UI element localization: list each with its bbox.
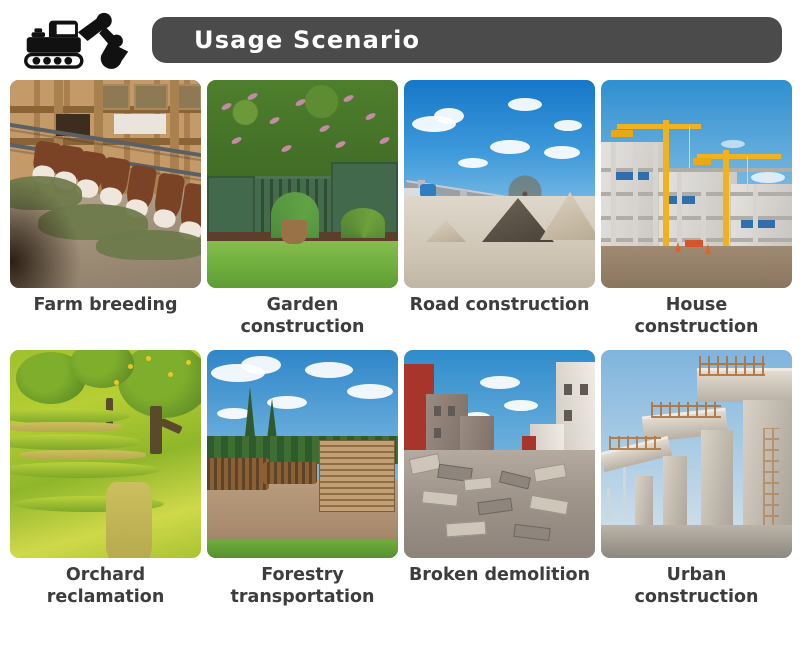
scenario-image-broken-demolition [404, 350, 595, 558]
scenario-card-urban-construction[interactable]: Urban construction [601, 350, 792, 608]
scenario-card-garden-construction[interactable]: Garden construction [207, 80, 398, 338]
scenario-row-2: Orchard reclamation [0, 338, 800, 608]
scenario-label-broken-demolition: Broken demolition [407, 565, 592, 587]
excavator-icon [14, 10, 138, 70]
usage-scenario-page: Usage Scenario [0, 0, 800, 645]
scenario-card-house-construction[interactable]: House construction [601, 80, 792, 338]
scenario-card-orchard-reclamation[interactable]: Orchard reclamation [10, 350, 201, 608]
scenario-image-urban-construction [601, 350, 792, 558]
section-title-bar: Usage Scenario [152, 17, 782, 63]
scenario-row-1: Farm breeding [0, 74, 800, 338]
scenario-image-road-construction [404, 80, 595, 288]
scenario-image-garden-construction [207, 80, 398, 288]
scenario-label-house-construction: House construction [604, 295, 789, 338]
scenario-image-forestry-transportation [207, 350, 398, 558]
scenario-card-broken-demolition[interactable]: Broken demolition [404, 350, 595, 608]
scenario-image-house-construction [601, 80, 792, 288]
scenario-grid: Farm breeding [0, 74, 800, 609]
scenario-label-road-construction: Road construction [407, 295, 592, 317]
scenario-card-farm-breeding[interactable]: Farm breeding [10, 80, 201, 338]
scenario-label-farm-breeding: Farm breeding [13, 295, 198, 317]
scenario-label-garden-construction: Garden construction [210, 295, 395, 338]
scenario-image-farm-breeding [10, 80, 201, 288]
scenario-label-forestry-transportation: Forestry transportation [210, 565, 395, 608]
scenario-label-urban-construction: Urban construction [604, 565, 789, 608]
page-title: Usage Scenario [152, 26, 420, 54]
scenario-label-orchard-reclamation: Orchard reclamation [13, 565, 198, 608]
scenario-card-road-construction[interactable]: Road construction [404, 80, 595, 338]
page-header: Usage Scenario [0, 0, 800, 72]
scenario-image-orchard-reclamation [10, 350, 201, 558]
scenario-card-forestry-transportation[interactable]: Forestry transportation [207, 350, 398, 608]
